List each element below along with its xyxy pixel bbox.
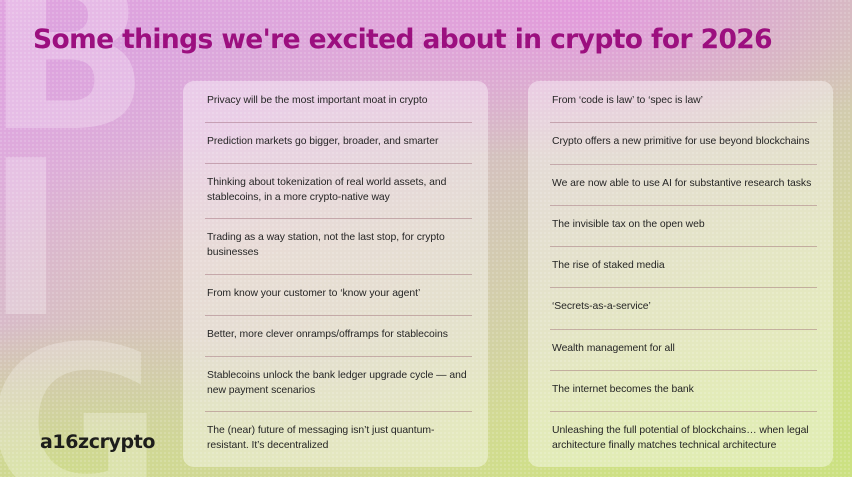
page-title: Some things we're excited about in crypt… (33, 24, 772, 55)
list-item: From know your customer to ‘know your ag… (197, 274, 474, 315)
list-item: Better, more clever onramps/offramps for… (197, 315, 474, 356)
list-item: Crypto offers a new primitive for use be… (542, 122, 819, 163)
list-item: From ‘code is law’ to ‘spec is law’ (542, 81, 819, 122)
list-item: ‘Secrets-as-a-service’ (542, 287, 819, 328)
list-item: Wealth management for all (542, 329, 819, 370)
slide-canvas: B I G Some things we're excited about in… (0, 0, 852, 477)
list-item: The internet becomes the bank (542, 370, 819, 411)
list-item: Thinking about tokenization of real worl… (197, 163, 474, 219)
list-item: We are now able to use AI for substantiv… (542, 164, 819, 205)
list-item: Privacy will be the most important moat … (197, 81, 474, 122)
list-item: The invisible tax on the open web (542, 205, 819, 246)
right-topics-card: From ‘code is law’ to ‘spec is law’ Cryp… (528, 81, 833, 467)
list-item: The (near) future of messaging isn’t jus… (197, 411, 474, 467)
a16zcrypto-logo: a16zcrypto (40, 431, 155, 453)
list-item: Trading as a way station, not the last s… (197, 218, 474, 274)
list-item: Prediction markets go bigger, broader, a… (197, 122, 474, 163)
list-item: Unleashing the full potential of blockch… (542, 411, 819, 467)
list-item: Stablecoins unlock the bank ledger upgra… (197, 356, 474, 412)
left-topics-card: Privacy will be the most important moat … (183, 81, 488, 467)
list-item: The rise of staked media (542, 246, 819, 287)
